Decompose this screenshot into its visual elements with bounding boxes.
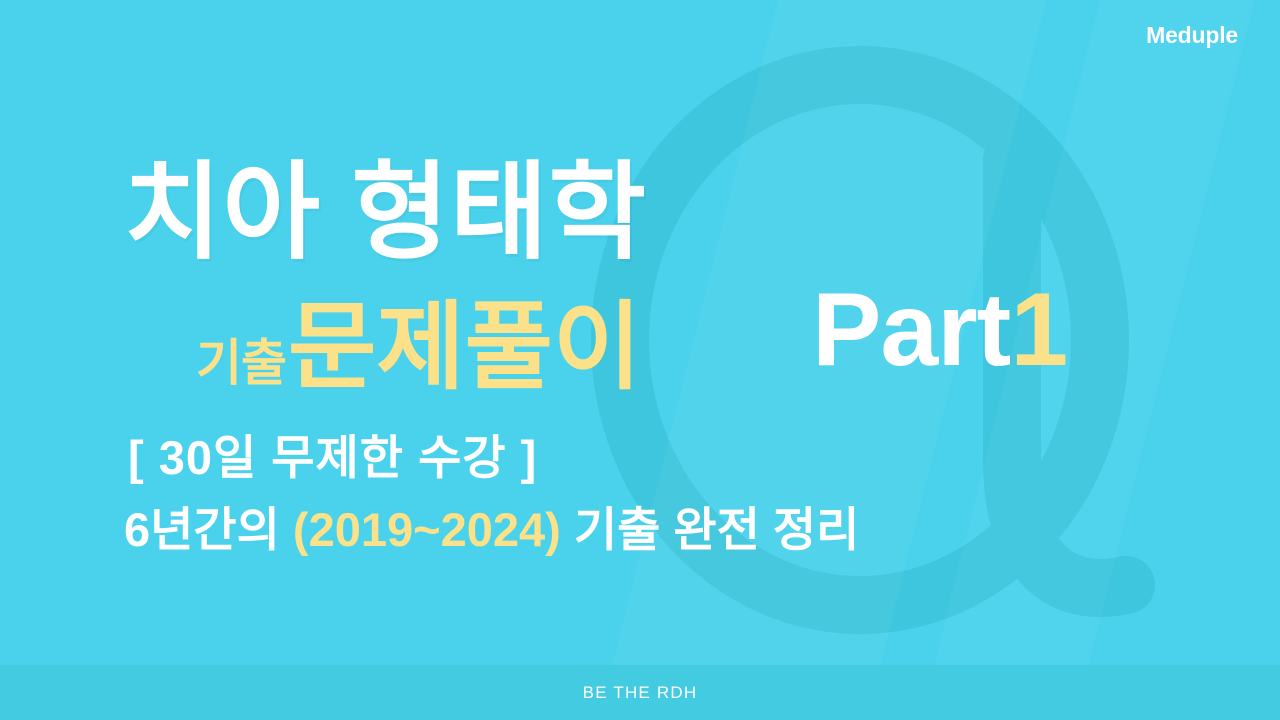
subject-main-label: 문제풀이: [288, 300, 641, 396]
page-title: 치아 형태학: [124, 158, 647, 269]
subject-line: 기출 문제풀이: [196, 300, 641, 396]
benefit-line: [ 30일 무제한 수강 ]: [128, 432, 537, 484]
coverage-range-label: (2019~2024): [293, 503, 561, 556]
part-number-label: 1: [1010, 272, 1067, 388]
footer-band: BE THE RDH: [0, 665, 1280, 720]
footer-tagline: BE THE RDH: [583, 684, 698, 701]
brand-wordmark: Meduple: [1146, 24, 1238, 47]
part-word-label: Part: [812, 272, 1010, 388]
coverage-line: 6년간의 (2019~2024) 기출 완전 정리: [124, 504, 859, 556]
coverage-prefix-label: 6년간의: [124, 503, 280, 556]
part-badge: Part1: [812, 278, 1067, 382]
coverage-suffix-label: 기출 완전 정리: [574, 503, 860, 556]
promo-slide: Meduple 치아 형태학 기출 문제풀이 Part1 [ 30일 무제한 수…: [0, 0, 1280, 720]
hero-content: 치아 형태학 기출 문제풀이 Part1 [ 30일 무제한 수강 ] 6년간의…: [0, 0, 1280, 665]
subject-prefix-label: 기출: [196, 338, 286, 388]
